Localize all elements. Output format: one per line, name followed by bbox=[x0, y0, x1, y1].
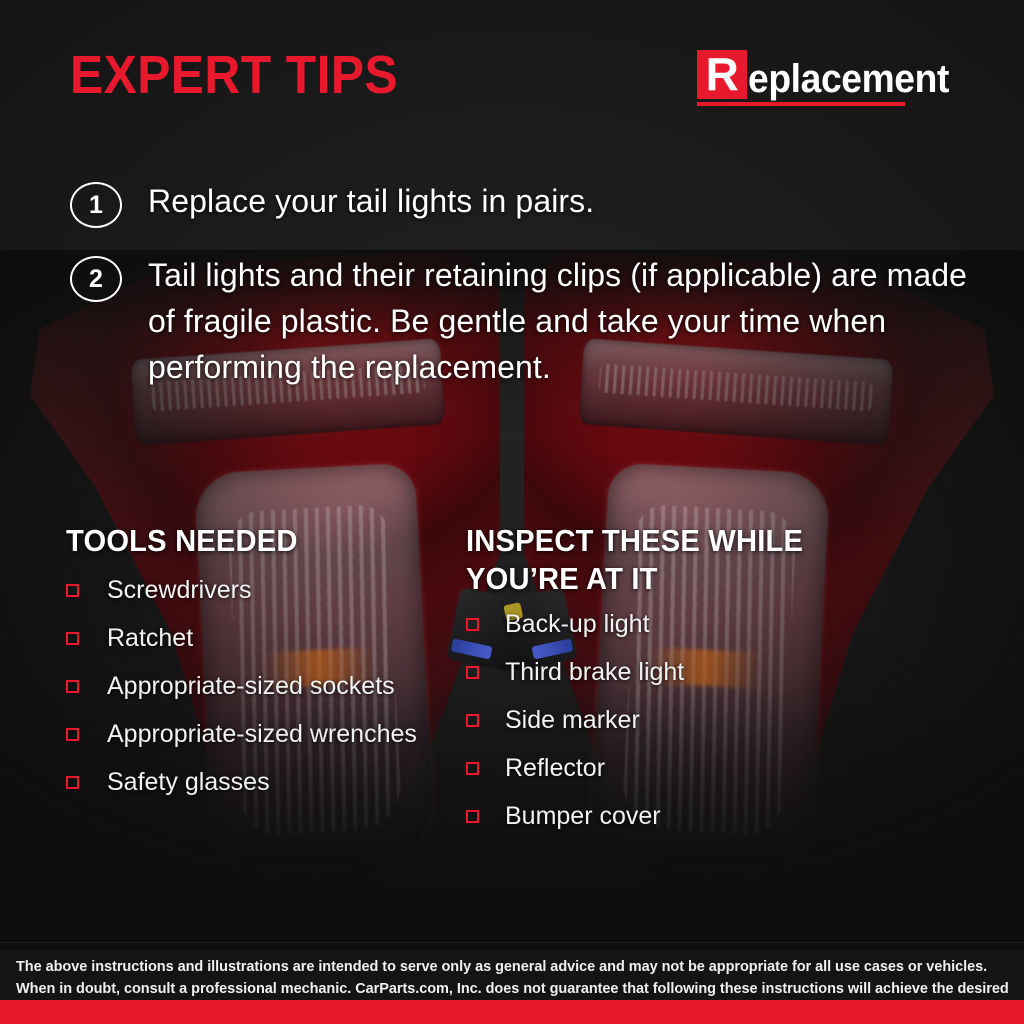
logo-wordmark: eplacement bbox=[748, 59, 949, 99]
tips-list: 1 Replace your tail lights in pairs. 2 T… bbox=[70, 178, 970, 414]
list-item-label: Appropriate-sized sockets bbox=[107, 672, 395, 701]
tip-text: Tail lights and their retaining clips (i… bbox=[148, 252, 970, 390]
list-item-label: Reflector bbox=[505, 754, 605, 783]
checkbox-icon bbox=[466, 810, 479, 823]
list-item: Bumper cover bbox=[466, 802, 926, 831]
tools-needed-heading: TOOLS NEEDED bbox=[66, 522, 442, 560]
tip-item: 1 Replace your tail lights in pairs. bbox=[70, 178, 970, 228]
bottom-accent-bar bbox=[0, 1000, 1024, 1024]
list-item-label: Safety glasses bbox=[107, 768, 270, 797]
list-item: Third brake light bbox=[466, 658, 926, 687]
checkbox-icon bbox=[466, 666, 479, 679]
tools-needed-list: Screwdrivers Ratchet Appropriate-sized s… bbox=[66, 576, 466, 797]
list-item: Safety glasses bbox=[66, 768, 466, 797]
checkbox-icon bbox=[466, 714, 479, 727]
tip-number-badge: 2 bbox=[70, 256, 122, 302]
list-item-label: Bumper cover bbox=[505, 802, 661, 831]
list-item: Appropriate-sized wrenches bbox=[66, 720, 466, 749]
checkbox-icon bbox=[466, 618, 479, 631]
inspect-list: Back-up light Third brake light Side mar… bbox=[466, 610, 926, 831]
list-item-label: Screwdrivers bbox=[107, 576, 251, 605]
tip-text: Replace your tail lights in pairs. bbox=[148, 178, 594, 224]
checkbox-icon bbox=[466, 762, 479, 775]
logo-underline bbox=[697, 102, 905, 106]
inspect-column: INSPECT THESE WHILE YOU’RE AT IT Back-up… bbox=[466, 522, 926, 850]
inspect-heading: INSPECT THESE WHILE YOU’RE AT IT bbox=[466, 522, 898, 598]
list-item: Screwdrivers bbox=[66, 576, 466, 605]
tip-number-badge: 1 bbox=[70, 182, 122, 228]
footer-divider bbox=[0, 942, 1024, 943]
expert-tips-card: EXPERT TIPS R eplacement 1 Replace your … bbox=[0, 0, 1024, 1024]
list-item-label: Side marker bbox=[505, 706, 640, 735]
list-item: Appropriate-sized sockets bbox=[66, 672, 466, 701]
tip-item: 2 Tail lights and their retaining clips … bbox=[70, 252, 970, 390]
checkbox-icon bbox=[66, 584, 79, 597]
list-item-label: Ratchet bbox=[107, 624, 193, 653]
list-item: Ratchet bbox=[66, 624, 466, 653]
list-item: Reflector bbox=[466, 754, 926, 783]
checkbox-icon bbox=[66, 776, 79, 789]
list-item: Back-up light bbox=[466, 610, 926, 639]
checkbox-icon bbox=[66, 728, 79, 741]
replacement-logo: R eplacement bbox=[697, 50, 964, 106]
checkbox-icon bbox=[66, 680, 79, 693]
list-item-label: Third brake light bbox=[505, 658, 684, 687]
logo-badge-letter: R bbox=[697, 50, 747, 99]
checkbox-icon bbox=[66, 632, 79, 645]
list-item: Side marker bbox=[466, 706, 926, 735]
list-item-label: Appropriate-sized wrenches bbox=[107, 720, 417, 749]
list-item-label: Back-up light bbox=[505, 610, 650, 639]
tools-needed-column: TOOLS NEEDED Screwdrivers Ratchet Approp… bbox=[66, 522, 466, 850]
page-title: EXPERT TIPS bbox=[70, 44, 398, 106]
checklist-columns: TOOLS NEEDED Screwdrivers Ratchet Approp… bbox=[66, 522, 966, 850]
